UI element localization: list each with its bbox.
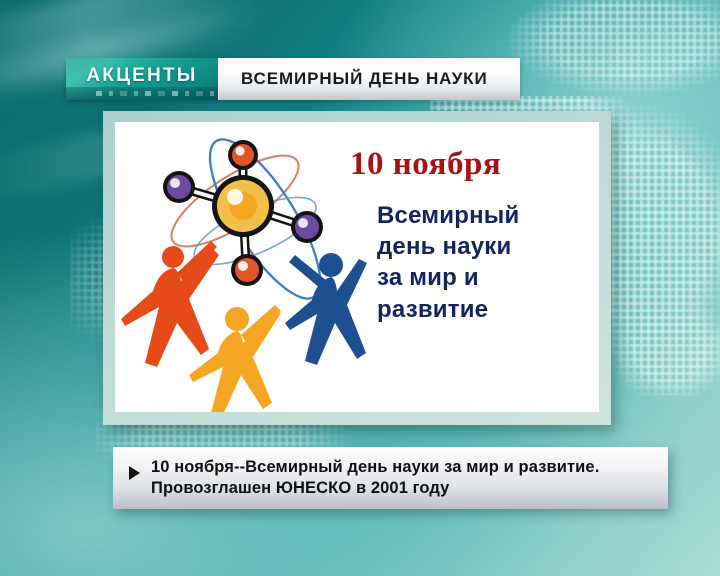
program-logo-block: АКЦЕНТЫ [66, 58, 218, 100]
slide-panel: 10 ноября Всемирный день науки за мир и … [115, 122, 599, 412]
caption-line: Провозглашен ЮНЕСКО в 2001 году [151, 478, 599, 499]
logo-tick-marks-decoration [96, 90, 212, 97]
atom-satellite-bottom [231, 254, 263, 286]
figure-red [121, 241, 219, 367]
slide-date-title: 10 ноября [350, 146, 501, 183]
headline-plate: ВСЕМИРНЫЙ ДЕНЬ НАУКИ [218, 58, 520, 100]
slide-slogan: Всемирный день науки за мир и развитие [377, 200, 519, 325]
figure-yellow [189, 305, 281, 412]
atom-satellite-top [228, 140, 258, 170]
slogan-line: Всемирный [377, 200, 519, 231]
atom-satellite-left [163, 171, 195, 203]
play-triangle-icon [129, 466, 140, 480]
slogan-line: за мир и [377, 262, 519, 293]
tv-broadcast-frame: АКЦЕНТЫ ВСЕМИРНЫЙ ДЕНЬ НАУКИ [0, 0, 720, 576]
figure-blue [285, 253, 367, 365]
atom-satellite-right [291, 211, 323, 243]
slogan-line: развитие [377, 294, 519, 325]
caption-line: 10 ноября--Всемирный день науки за мир и… [151, 457, 599, 478]
headline-label: ВСЕМИРНЫЙ ДЕНЬ НАУКИ [241, 69, 488, 89]
atom-nucleus [212, 175, 274, 237]
caption-text: 10 ноября--Всемирный день науки за мир и… [151, 457, 599, 499]
slide-panel-frame: 10 ноября Всемирный день науки за мир и … [103, 111, 611, 425]
broadcast-header-bar: АКЦЕНТЫ ВСЕМИРНЫЙ ДЕНЬ НАУКИ [66, 58, 520, 100]
caption-bar: 10 ноября--Всемирный день науки за мир и… [113, 447, 668, 509]
slogan-line: день науки [377, 231, 519, 262]
program-name-label: АКЦЕНТЫ [86, 65, 197, 87]
